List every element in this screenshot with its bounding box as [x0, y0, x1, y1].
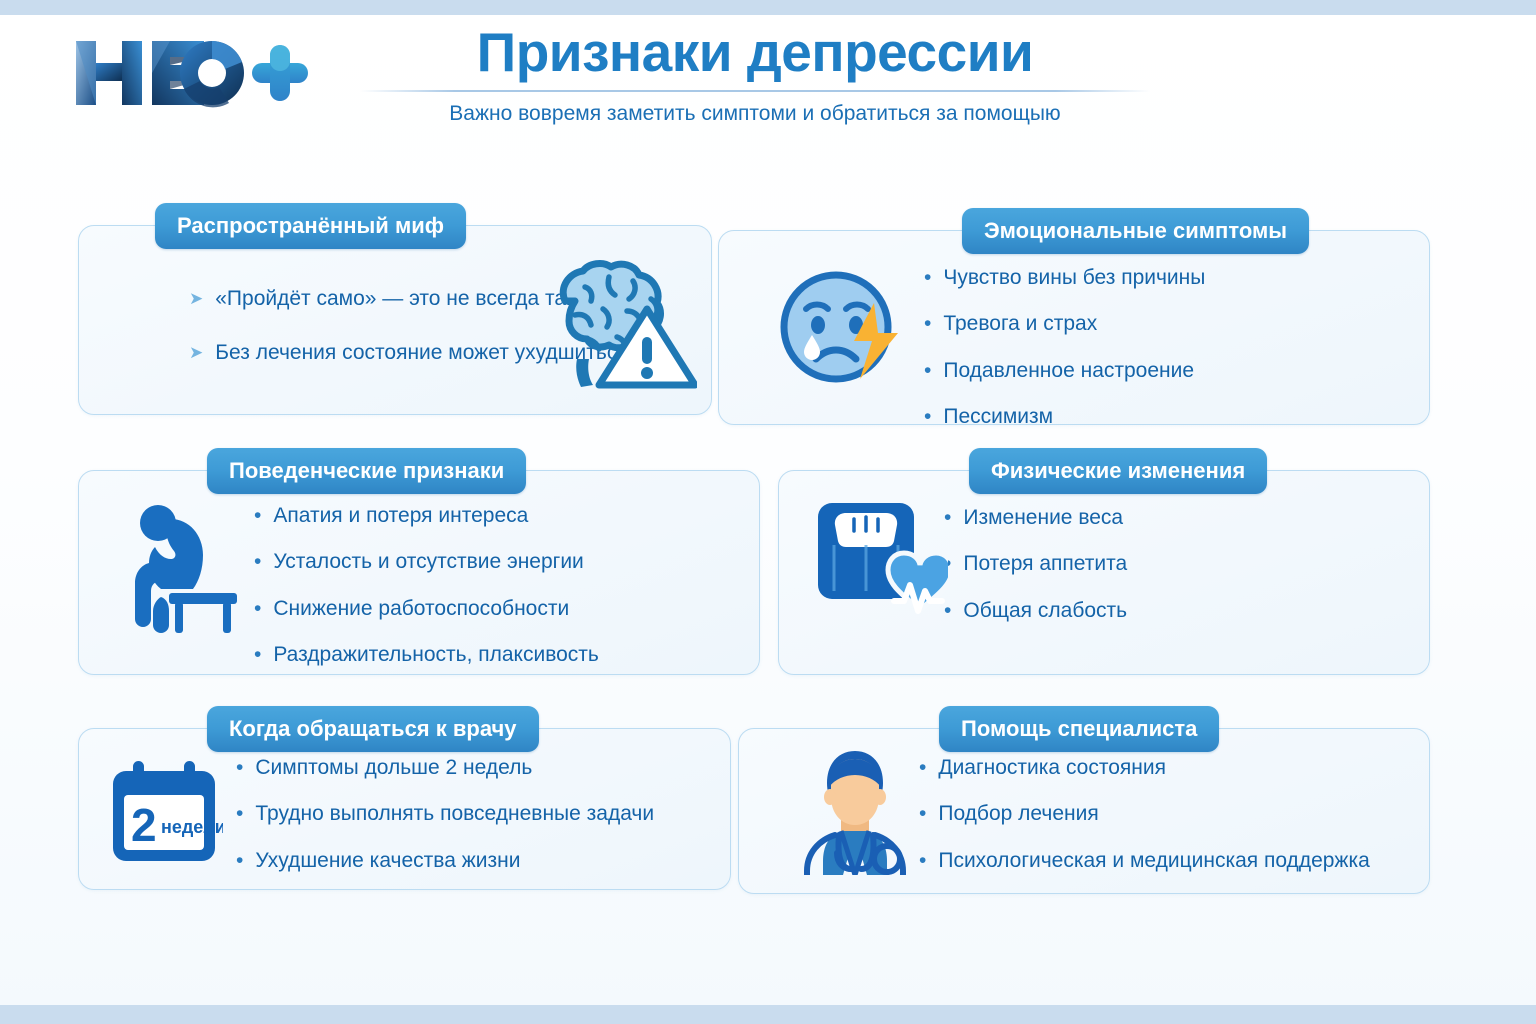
list-item-label: «Пройдёт само» — это не всегда так — [215, 286, 575, 312]
list-item: • Общая слабость — [944, 598, 1127, 624]
dot-bullet-icon: • — [236, 755, 243, 781]
card-myth-badge: Распространённый миф — [155, 203, 466, 249]
infographic-page: Признаки депрессии Важно вовремя заметит… — [0, 0, 1536, 1024]
card-when-to-see-doctor-badge: Когда обращаться к врачу — [207, 706, 539, 752]
list-item-label: Психологическая и медицинская поддержка — [938, 848, 1369, 874]
card-physical-badge: Физические изменения — [969, 448, 1267, 494]
list-item-label: Апатия и потеря интереса — [273, 503, 528, 529]
calendar-unit: недели — [161, 817, 223, 837]
list-item-label: Потеря аппетита — [963, 551, 1127, 577]
list-item-label: Изменение веса — [963, 505, 1123, 531]
card-physical-list: • Изменение веса • Потеря аппетита • Общ… — [944, 505, 1127, 624]
sad-face-lightning-icon — [776, 263, 904, 391]
list-item: • Изменение веса — [944, 505, 1127, 531]
list-item: • Подавленное настроение — [924, 358, 1205, 384]
title-block: Признаки депрессии Важно вовремя заметит… — [330, 21, 1180, 126]
sitting-person-icon — [125, 501, 245, 635]
card-when-to-see-doctor-list: • Симптомы дольше 2 недель • Трудно выпо… — [236, 755, 654, 874]
list-item: • Психологическая и медицинская поддержк… — [919, 848, 1370, 874]
dot-bullet-icon: • — [254, 642, 261, 668]
list-item: • Апатия и потеря интереса — [254, 503, 599, 529]
dot-bullet-icon: • — [254, 596, 261, 622]
dot-bullet-icon: • — [924, 265, 931, 291]
list-item: • Тревога и страх — [924, 311, 1205, 337]
list-item-label: Общая слабость — [963, 598, 1127, 624]
dot-bullet-icon: • — [236, 801, 243, 827]
doctor-stethoscope-icon — [789, 747, 921, 875]
card-behavior-badge: Поведенческие признаки — [207, 448, 526, 494]
card-emotional-badge: Эмоциональные симптомы — [962, 208, 1309, 254]
title-divider — [360, 90, 1150, 92]
top-edge-band — [0, 0, 1536, 15]
page-title: Признаки депрессии — [330, 21, 1180, 84]
arrow-bullet-icon: ➤ — [189, 286, 203, 312]
list-item: • Раздражительность, плаксивость — [254, 642, 599, 668]
arrow-bullet-icon: ➤ — [189, 340, 203, 366]
card-emotional-list: • Чувство вины без причины • Тревога и с… — [924, 265, 1205, 430]
list-item-label: Раздражительность, плаксивость — [273, 642, 599, 668]
brain-warning-icon — [529, 253, 697, 393]
list-item-label: Диагностика состояния — [938, 755, 1166, 781]
list-item: • Ухудшение качества жизни — [236, 848, 654, 874]
list-item-label: Ухудшение качества жизни — [255, 848, 520, 874]
list-item: • Пессимизм — [924, 404, 1205, 430]
calendar-number: 2 — [131, 799, 157, 851]
bottom-edge-band — [0, 1005, 1536, 1024]
header: Признаки депрессии Важно вовремя заметит… — [0, 15, 1536, 170]
dot-bullet-icon: • — [236, 848, 243, 874]
list-item-label: Усталость и отсутствие энергии — [273, 549, 583, 575]
card-behavior: Поведенческие признаки • Апатия и потеря… — [78, 470, 760, 675]
dot-bullet-icon: • — [924, 404, 931, 430]
dot-bullet-icon: • — [254, 549, 261, 575]
page-subtitle: Важно вовремя заметить симптоми и обрати… — [330, 102, 1180, 126]
list-item-label: Снижение работоспособности — [273, 596, 569, 622]
list-item-label: Подавленное настроение — [943, 358, 1194, 384]
dot-bullet-icon: • — [254, 503, 261, 529]
card-specialist-help-badge: Помощь специалиста — [939, 706, 1219, 752]
card-specialist-help: Помощь специалиста • Диагностика состоян… — [738, 728, 1430, 894]
list-item: • Подбор лечения — [919, 801, 1370, 827]
list-item: • Потеря аппетита — [944, 551, 1127, 577]
card-myth: Распространённый миф ➤ «Пройдёт само» — … — [78, 225, 712, 415]
dot-bullet-icon: • — [924, 358, 931, 384]
card-emotional: Эмоциональные симптомы • Чувство вины бе… — [718, 230, 1430, 425]
card-when-to-see-doctor: Когда обращаться к врачу • Симптомы доль… — [78, 728, 731, 890]
calendar-two-weeks-icon: 2 недели — [105, 759, 223, 863]
weight-scale-heart-icon — [812, 495, 948, 619]
list-item-label: Симптомы дольше 2 недель — [255, 755, 532, 781]
list-item: • Симптомы дольше 2 недель — [236, 755, 654, 781]
card-behavior-list: • Апатия и потеря интереса • Усталость и… — [254, 503, 599, 668]
list-item-label: Тревога и страх — [943, 311, 1097, 337]
list-item-label: Чувство вины без причины — [943, 265, 1205, 291]
list-item: • Снижение работоспособности — [254, 596, 599, 622]
list-item-label: Трудно выполнять повседневные задачи — [255, 801, 654, 827]
brand-logo — [72, 33, 312, 113]
card-specialist-help-list: • Диагностика состояния • Подбор лечения… — [919, 755, 1370, 874]
list-item: • Усталость и отсутствие энергии — [254, 549, 599, 575]
dot-bullet-icon: • — [924, 311, 931, 337]
list-item-label: Пессимизм — [943, 404, 1053, 430]
list-item-label: Подбор лечения — [938, 801, 1098, 827]
card-physical: Физические изменения • Изменение веса • … — [778, 470, 1430, 675]
list-item: • Трудно выполнять повседневные задачи — [236, 801, 654, 827]
list-item: • Диагностика состояния — [919, 755, 1370, 781]
list-item: • Чувство вины без причины — [924, 265, 1205, 291]
